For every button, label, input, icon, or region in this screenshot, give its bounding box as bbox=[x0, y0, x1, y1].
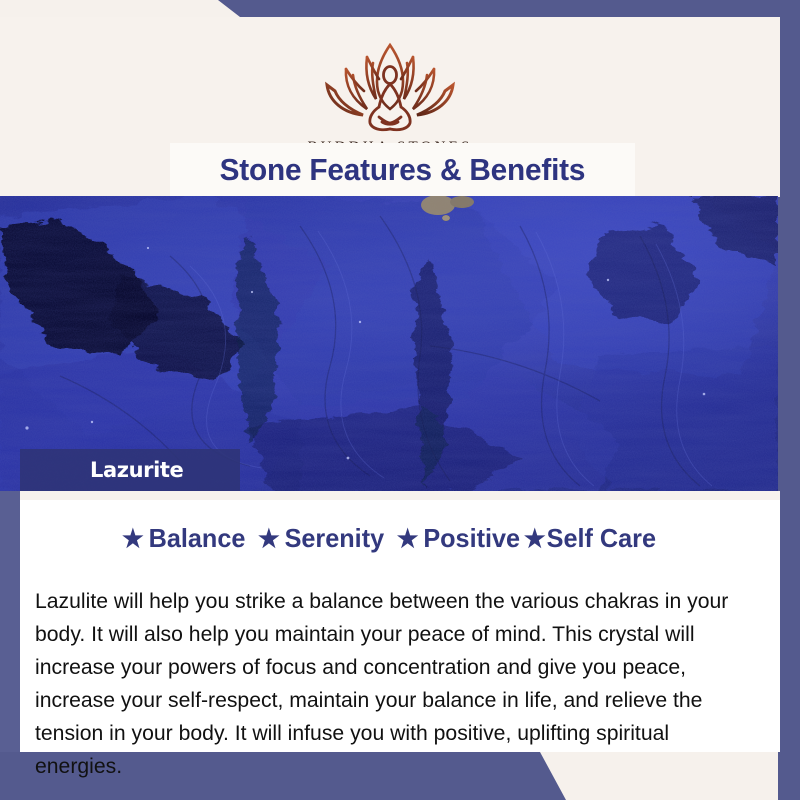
right-purple-strip bbox=[778, 0, 800, 800]
stone-photo bbox=[0, 196, 778, 491]
title-band: Stone Features & Benefits bbox=[170, 143, 635, 196]
benefit-label: Positive bbox=[423, 523, 520, 553]
star-icon: ★ bbox=[122, 525, 144, 553]
star-icon: ★ bbox=[524, 525, 546, 553]
card-top-tint bbox=[20, 491, 780, 500]
stone-name: Lazurite bbox=[90, 458, 183, 482]
star-icon: ★ bbox=[397, 525, 419, 553]
benefit-item-serenity: ★Serenity bbox=[258, 523, 386, 553]
page-title: Stone Features & Benefits bbox=[220, 152, 586, 188]
lazurite-stone-image bbox=[0, 196, 778, 491]
stone-description: Lazulite will help you strike a balance … bbox=[35, 585, 744, 783]
content-card: ★Balance★Serenity★Positive★Self Care Laz… bbox=[20, 491, 780, 752]
benefit-label: Balance bbox=[149, 523, 246, 553]
benefit-item-self-care: ★Self Care bbox=[524, 523, 658, 553]
stone-name-badge: Lazurite bbox=[20, 449, 240, 491]
star-icon: ★ bbox=[258, 525, 280, 553]
benefit-label: Serenity bbox=[285, 523, 385, 553]
lotus-meditation-logo-icon bbox=[315, 39, 465, 135]
benefit-item-positive: ★Positive bbox=[397, 523, 522, 553]
benefit-item-balance: ★Balance bbox=[122, 523, 247, 553]
infographic-canvas: BUDDHA STONES Stone Features & Benefits bbox=[0, 0, 800, 800]
benefit-label: Self Care bbox=[547, 523, 656, 553]
benefits-list: ★Balance★Serenity★Positive★Self Care bbox=[31, 523, 749, 554]
brand-logo: BUDDHA STONES bbox=[0, 39, 780, 156]
